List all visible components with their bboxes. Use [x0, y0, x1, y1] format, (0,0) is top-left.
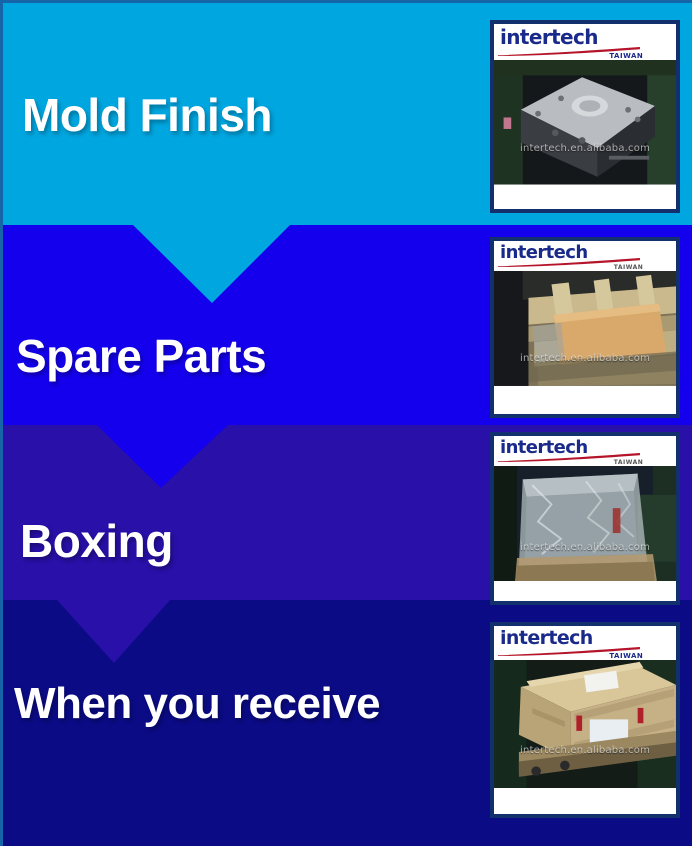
thumbnail-body: intertech TAIWAN	[494, 436, 676, 601]
spare-parts-photo-art	[494, 271, 676, 386]
thumbnail-footer	[494, 187, 676, 209]
thumbnail-footer	[494, 396, 676, 414]
step-1-label: Mold Finish	[22, 92, 272, 138]
logo-region-label: TAIWAN	[609, 652, 643, 660]
slide-canvas: Mold Finish Spare Parts Boxing When you …	[0, 0, 692, 846]
logo-region-label: TAIWAN	[614, 264, 644, 271]
alibaba-watermark: intertech.en.alibaba.com	[494, 353, 676, 364]
thumbnail-body: intertech TAIWAN	[494, 626, 676, 814]
step-3-photo-thumbnail[interactable]: intertech TAIWAN	[490, 432, 680, 605]
intertech-logo: intertech TAIWAN	[494, 24, 676, 60]
boxing-photo: intertech.en.alibaba.com	[494, 466, 676, 583]
intertech-logo: intertech TAIWAN	[494, 626, 676, 660]
thumbnail-body: intertech TAIWAN	[494, 241, 676, 414]
step-1-photo-thumbnail[interactable]: intertech TAIWAN	[490, 20, 680, 213]
alibaba-watermark: intertech.en.alibaba.com	[494, 143, 676, 154]
step-4-photo-thumbnail[interactable]: intertech TAIWAN	[490, 622, 680, 818]
crate-photo: intertech.en.alibaba.com	[494, 660, 676, 790]
spare-parts-photo: intertech.en.alibaba.com	[494, 271, 676, 396]
intertech-logo: intertech TAIWAN	[494, 241, 676, 271]
logo-wordmark: intertech	[500, 627, 593, 649]
alibaba-watermark: intertech.en.alibaba.com	[494, 542, 676, 553]
thumbnail-footer	[494, 583, 676, 601]
alibaba-watermark: intertech.en.alibaba.com	[494, 745, 676, 756]
mold-photo: intertech.en.alibaba.com	[494, 60, 676, 187]
crate-photo-art	[494, 660, 676, 788]
logo-region-label: TAIWAN	[609, 52, 643, 60]
boxing-photo-art	[494, 466, 676, 581]
thumbnail-body: intertech TAIWAN	[494, 24, 676, 209]
logo-wordmark: intertech	[500, 25, 598, 49]
step-2-label: Spare Parts	[16, 333, 266, 379]
intertech-logo: intertech TAIWAN	[494, 436, 676, 466]
step-4-label: When you receive	[14, 682, 380, 726]
mold-photo-art	[494, 60, 676, 185]
step-2-photo-thumbnail[interactable]: intertech TAIWAN	[490, 237, 680, 418]
step-3-label: Boxing	[20, 518, 173, 564]
thumbnail-footer	[494, 790, 676, 814]
logo-region-label: TAIWAN	[614, 459, 644, 466]
